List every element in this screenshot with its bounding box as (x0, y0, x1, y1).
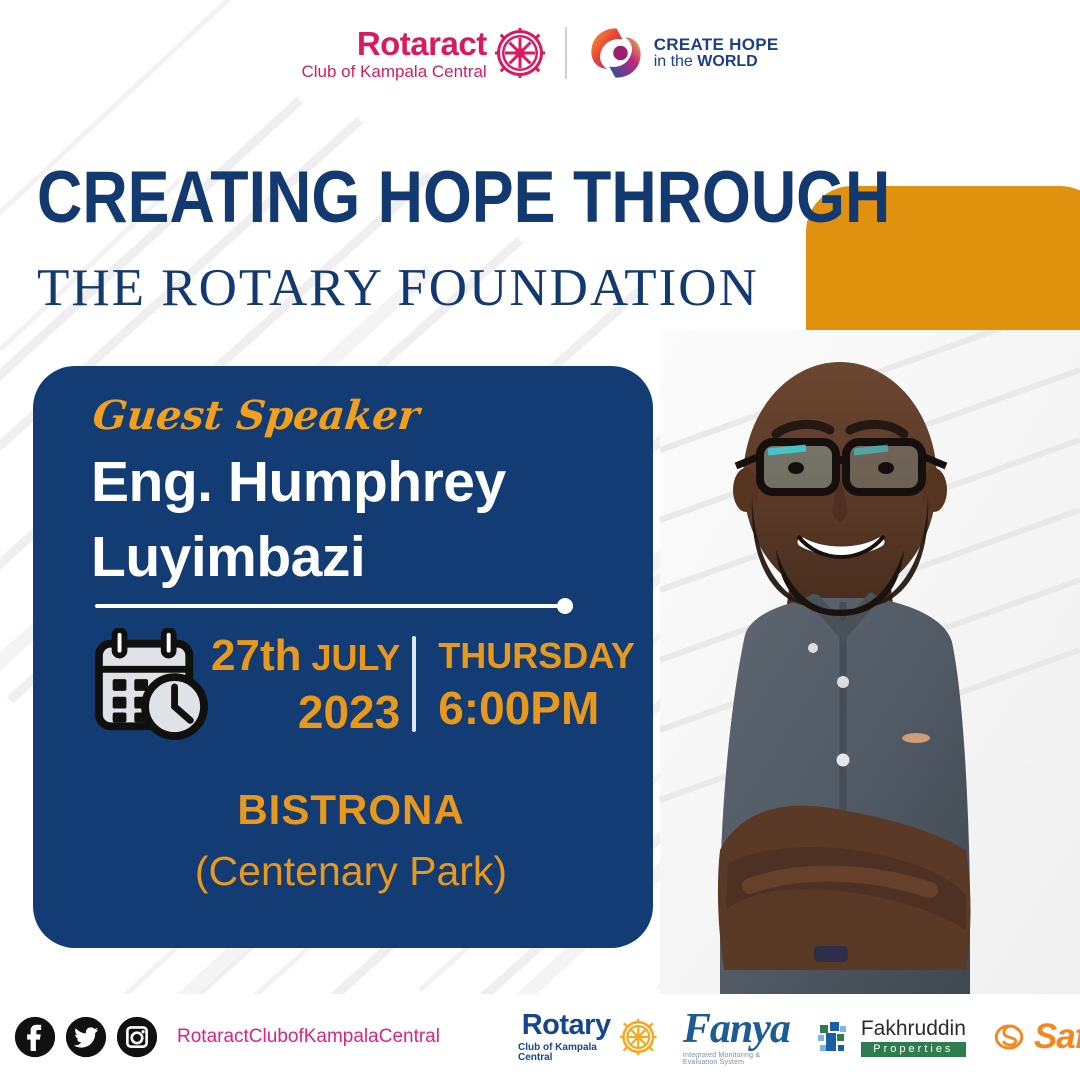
event-time: 6:00PM (438, 685, 599, 731)
social-handle: RotaractClubofKampalaCentral (177, 1026, 440, 1048)
weekday: THURSDAY (438, 638, 635, 674)
rotary-wheel-icon (495, 28, 545, 78)
header-logos: Rotaract Club of Kampala Central (0, 14, 1080, 92)
create-hope-logo: CREATE HOPE in the WORLD (587, 25, 779, 81)
fakhruddin-sub: Properties (861, 1042, 966, 1057)
venue-detail: (Centenary Park) (91, 848, 611, 895)
venue-name: BISTRONA (91, 786, 611, 834)
date-day-month: 27th JULY (211, 634, 400, 678)
card-divider-dot (557, 598, 573, 614)
fakhruddin-wordmark: Fakhruddin Properties (861, 1018, 966, 1057)
fakhruddin-name: Fakhruddin (861, 1018, 966, 1039)
sub-title: THE ROTARY FOUNDATION (37, 258, 1029, 318)
rotaract-club: Club of Kampala Central (301, 63, 486, 80)
date-year: 2023 (298, 689, 400, 735)
sponsor-logos: Rotary Club of Kampala Central (518, 1008, 1080, 1066)
fanya-name: Fanya (683, 1008, 790, 1050)
fakhruddin-pixel-icon (816, 1017, 854, 1057)
create-hope-swirl-icon (587, 25, 645, 81)
time-column: THURSDAY 6:00PM (416, 638, 635, 731)
sponsor-rotary: Rotary Club of Kampala Central (518, 1011, 657, 1063)
rotaract-logo: Rotaract Club of Kampala Central (301, 27, 544, 80)
facebook-icon[interactable] (14, 1016, 56, 1058)
social-links: RotaractClubofKampalaCentral (14, 1016, 440, 1058)
instagram-icon[interactable] (116, 1016, 158, 1058)
fanya-tagline: Integrated Monitoring & Evaluation Syste… (683, 1052, 790, 1066)
card-divider (95, 604, 565, 608)
calendar-clock-icon (91, 628, 209, 740)
date-column: 27th JULY 2023 (211, 634, 400, 735)
guest-speaker-label: Guest Speaker (91, 392, 422, 439)
rotary-club: Club of Kampala Central (518, 1043, 614, 1063)
rotary-wheel-gold-icon (620, 1015, 657, 1059)
twitter-icon[interactable] (65, 1016, 107, 1058)
sponsor-safeboda: SafeBoda (992, 1017, 1080, 1057)
datetime-row: 27th JULY 2023 THURSDAY 6:00PM (91, 628, 635, 740)
rotary-wordmark: Rotary Club of Kampala Central (518, 1011, 614, 1063)
safeboda-swirl-icon (992, 1020, 1026, 1054)
sponsor-fakhruddin: Fakhruddin Properties (816, 1017, 966, 1057)
header-divider (565, 27, 567, 79)
safeboda-name: SafeBoda (1034, 1017, 1080, 1057)
main-title: CREATING HOPE THROUGH (37, 163, 890, 232)
rotaract-name: Rotaract (357, 27, 487, 60)
create-hope-wordmark: CREATE HOPE in the WORLD (654, 36, 779, 71)
footer: RotaractClubofKampalaCentral Rotary Club… (0, 994, 1080, 1080)
speaker-photo (600, 330, 1080, 1000)
title-block: CREATING HOPE THROUGH THE ROTARY FOUNDAT… (37, 163, 1029, 318)
rotary-name: Rotary (522, 1011, 611, 1040)
speaker-name: Eng. Humphrey Luyimbazi (91, 445, 631, 595)
create-hope-line1: CREATE HOPE (654, 36, 779, 54)
sponsor-fanya: Fanya Integrated Monitoring & Evaluation… (683, 1008, 790, 1066)
event-info-card: Guest Speaker Eng. Humphrey Luyimbazi 27… (33, 366, 653, 948)
create-hope-line2: in the WORLD (654, 54, 779, 71)
rotaract-wordmark: Rotaract Club of Kampala Central (301, 27, 486, 80)
venue-block: BISTRONA (Centenary Park) (91, 786, 611, 895)
